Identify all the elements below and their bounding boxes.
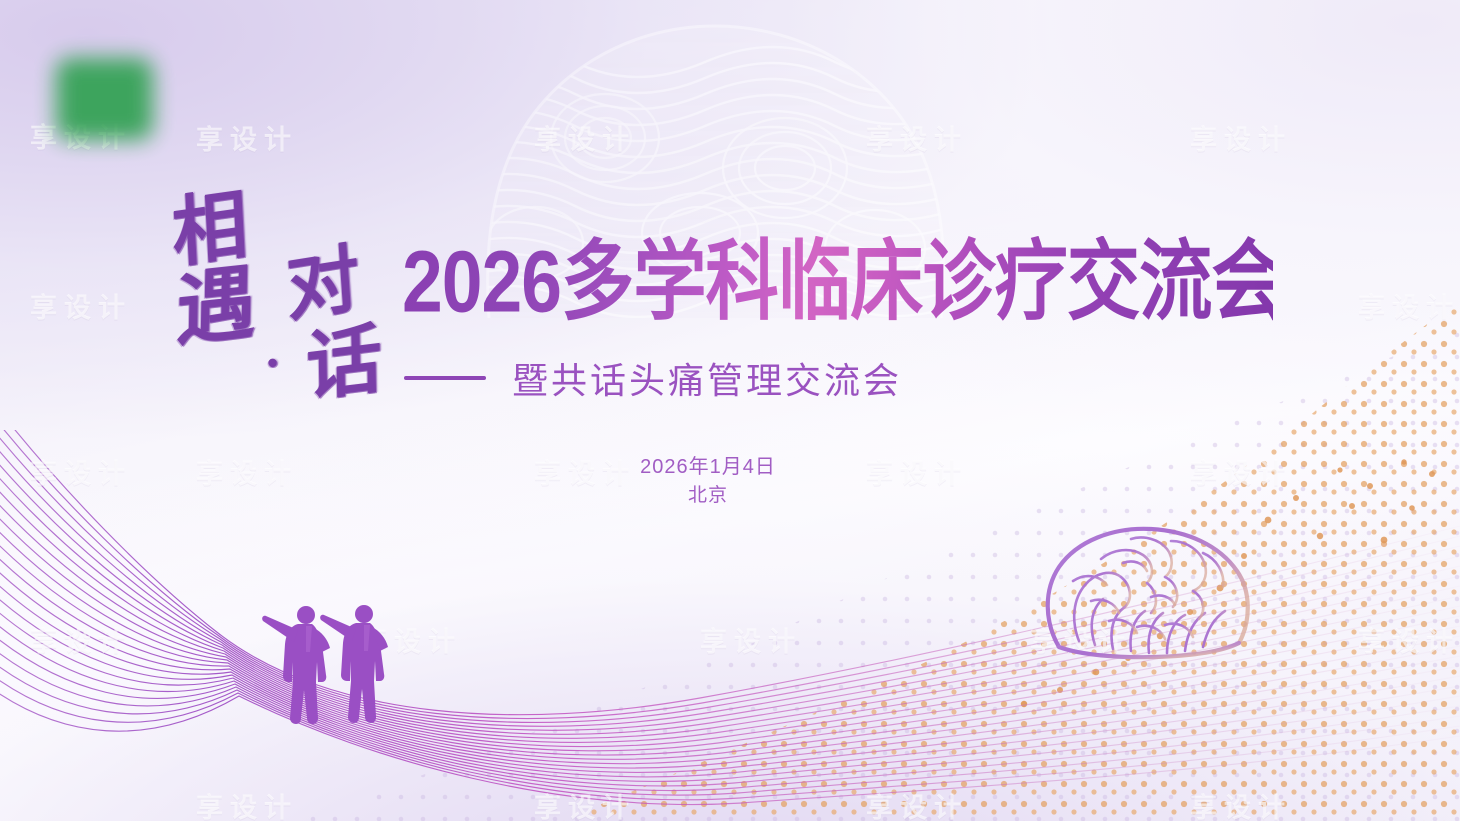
watermark-text: 享设计 [196, 118, 298, 157]
calligraphy-dot: · [262, 337, 283, 390]
event-date: 2026年1月4日 [0, 452, 1438, 482]
watermark-text: 享设计 [1358, 286, 1460, 325]
calligraphy-char-dui: 对 [284, 242, 362, 328]
doctor-silhouettes [262, 600, 392, 735]
watermark-text: 享设计 [30, 286, 132, 325]
subtitle-row: 暨共话头痛管理交流会 [404, 352, 902, 404]
subtitle-rule [404, 376, 486, 380]
event-meta: 2026年1月4日 北京 [0, 452, 1438, 511]
page-title: 2026多学科临床诊疗交流会 [402, 236, 1273, 328]
calligraphy-char-hua: 话 [306, 321, 383, 407]
subtitle-text: 暨共话头痛管理交流会 [512, 352, 902, 404]
blurred-logo[interactable] [56, 58, 153, 140]
calligraphy-char-xiang: 相 [170, 187, 249, 274]
watermark-text: 享设计 [1190, 118, 1292, 157]
event-city: 北京 [0, 482, 1438, 511]
calligraphy-char-yu: 遇 [176, 264, 257, 353]
brain-icon [1035, 515, 1270, 670]
calligraphy-slogan: 相 遇 · 对 话 [168, 190, 398, 415]
conference-poster: 享设计 享设计 享设计 享设计 享设计 享设计 享设计 享设计 享设计 享设计 … [0, 0, 1460, 821]
title-block: 2026多学科临床诊疗交流会 [402, 236, 1282, 314]
